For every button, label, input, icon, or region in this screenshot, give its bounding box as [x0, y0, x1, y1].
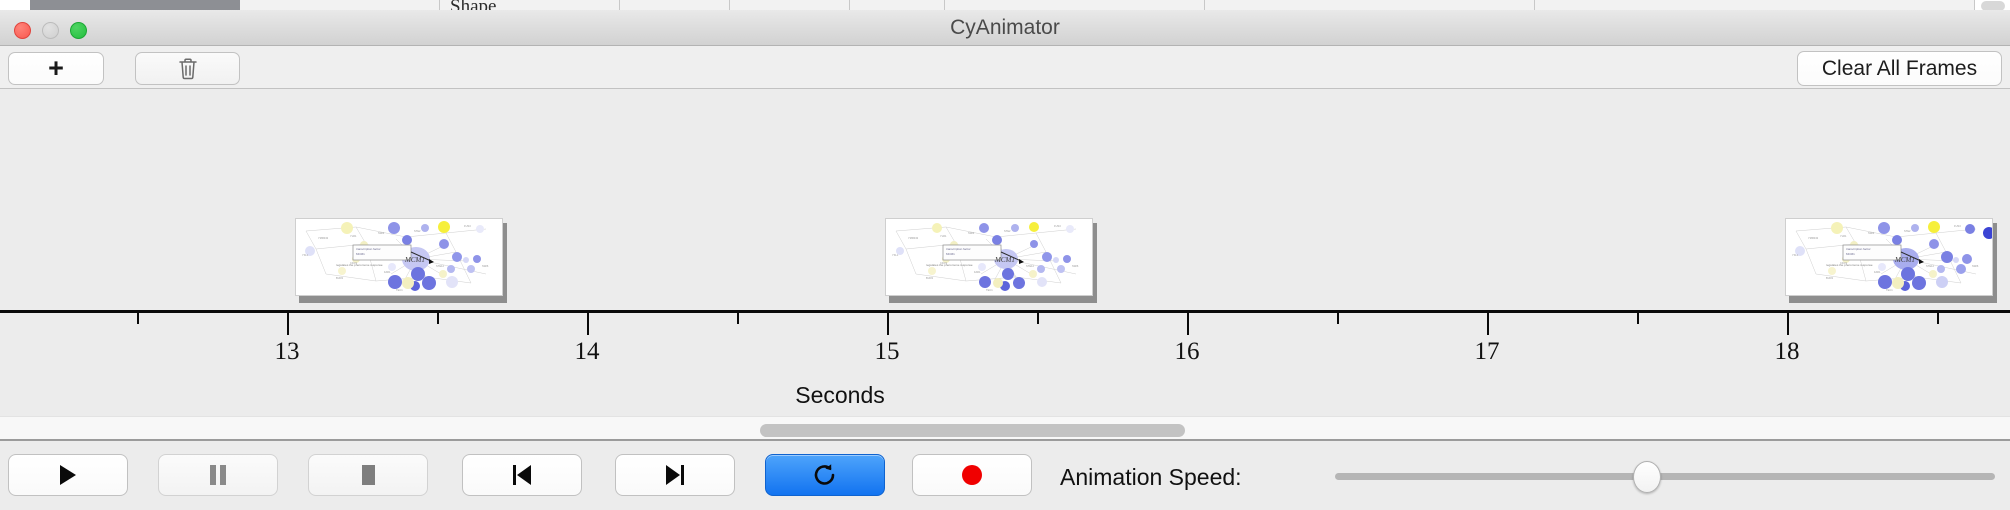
svg-text:YKL1: YKL1	[302, 253, 309, 257]
svg-text:MCM1: MCM1	[946, 252, 955, 256]
pause-button[interactable]	[158, 454, 278, 496]
svg-text:FAR1: FAR1	[974, 270, 981, 274]
plus-icon: +	[48, 55, 64, 82]
svg-text:FUS3: FUS3	[1054, 224, 1061, 228]
svg-text:MCM1: MCM1	[356, 252, 365, 256]
skip-forward-icon	[664, 464, 686, 486]
svg-text:MCM1: MCM1	[404, 256, 425, 264]
svg-text:SWI4: SWI4	[1868, 231, 1875, 235]
close-icon[interactable]	[14, 22, 31, 39]
svg-text:SWI6: SWI6	[482, 264, 489, 268]
timeline-major-tick	[1187, 313, 1189, 335]
timeline-tick-label: 15	[875, 338, 900, 366]
svg-text:BUD3: BUD3	[926, 276, 933, 280]
network-graph-icon: YMR043YLR1 SWI4STE2 FUS3YKL1 CDC9BUD3 FA…	[886, 219, 1093, 296]
svg-text:YMR043: YMR043	[908, 236, 919, 240]
frame-image: YMR043YLR1 SWI4STE2 FUS3YKL1 CDC9BUD3 FA…	[295, 218, 503, 296]
zoom-icon[interactable]	[70, 22, 87, 39]
svg-text:transcription factor: transcription factor	[1846, 247, 1871, 251]
timeline-minor-tick	[737, 313, 739, 324]
timeline-major-tick	[1787, 313, 1789, 335]
svg-text:MCM1: MCM1	[994, 256, 1015, 264]
record-button[interactable]	[912, 454, 1032, 496]
scrollbar-thumb[interactable]	[760, 424, 1185, 437]
playback-toolbar: Animation Speed:	[0, 439, 2010, 510]
svg-text:MCM1: MCM1	[1894, 256, 1915, 264]
cyanimator-window: Shape CyAnimator + Clear All Frames	[0, 0, 2010, 510]
svg-text:BUD3: BUD3	[1826, 276, 1833, 280]
previous-frame-button[interactable]	[462, 454, 582, 496]
clear-all-frames-button[interactable]: Clear All Frames	[1797, 51, 2002, 86]
timeline-major-tick	[587, 313, 589, 335]
delete-frame-button[interactable]	[135, 52, 240, 85]
svg-text:regulates the pheromone respon: regulates the pheromone response	[926, 263, 973, 267]
stop-button[interactable]	[308, 454, 428, 496]
timeline-minor-tick	[1037, 313, 1039, 324]
add-frame-button[interactable]: +	[8, 52, 104, 85]
animation-speed-label: Animation Speed:	[1060, 464, 1242, 491]
pause-icon	[208, 464, 228, 486]
timeline-tick-label: 14	[575, 338, 600, 366]
timeline-frame-thumbnail[interactable]: YMR043YLR1 SWI4STE2 FUS3YKL1 CDC9BUD3 FA…	[295, 218, 505, 300]
timeline-panel[interactable]: YMR043YLR1 SWI4STE2 FUS3YKL1 CDC9BUD3 FA…	[0, 89, 2010, 416]
next-frame-button[interactable]	[615, 454, 735, 496]
svg-text:SWI6: SWI6	[1972, 264, 1979, 268]
animation-speed-slider-thumb[interactable]	[1633, 461, 1661, 493]
timeline-scrollbar[interactable]	[0, 416, 2010, 439]
loop-button[interactable]	[765, 454, 885, 496]
timeline-tick-label: 16	[1175, 338, 1200, 366]
record-icon	[960, 463, 984, 487]
svg-text:FAR1: FAR1	[384, 270, 391, 274]
svg-text:YKL1: YKL1	[892, 253, 899, 257]
axis-title: Seconds	[0, 382, 2010, 409]
skip-back-icon	[511, 464, 533, 486]
svg-text:SWI4: SWI4	[378, 231, 385, 235]
timeline-minor-tick	[1637, 313, 1639, 324]
svg-text:STE2: STE2	[1004, 229, 1011, 233]
timeline-minor-tick	[1337, 313, 1339, 324]
svg-text:STE12: STE12	[1026, 264, 1034, 268]
svg-text:SWI4: SWI4	[968, 231, 975, 235]
svg-text:TEC1: TEC1	[1886, 288, 1893, 292]
timeline-frame-thumbnail[interactable]: YMR043YLR1 SWI4STE2 FUS3YKL1 CDC9BUD3 FA…	[885, 218, 1095, 300]
svg-text:STE2: STE2	[414, 229, 421, 233]
svg-text:TEC1: TEC1	[986, 288, 993, 292]
axis-title-label: Seconds	[795, 382, 885, 408]
timeline-tick-label: 13	[275, 338, 300, 366]
loop-icon	[813, 463, 837, 487]
svg-text:transcription factor: transcription factor	[946, 247, 971, 251]
trash-icon	[177, 57, 199, 81]
play-icon	[58, 464, 78, 486]
svg-text:YLR1: YLR1	[1840, 234, 1847, 238]
svg-text:TEC1: TEC1	[396, 288, 403, 292]
timeline-tick-label: 18	[1775, 338, 1800, 366]
svg-text:BUD3: BUD3	[336, 276, 343, 280]
frame-image: YMR043YLR1 SWI4STE2 FUS3YKL1 CDC9BUD3 FA…	[1785, 218, 1993, 296]
svg-text:STE2: STE2	[1904, 229, 1911, 233]
animation-speed-slider[interactable]	[1335, 473, 1995, 480]
svg-text:YKL1: YKL1	[1792, 253, 1799, 257]
svg-text:YLR1: YLR1	[940, 234, 947, 238]
timeline-minor-tick	[437, 313, 439, 324]
traffic-lights	[14, 22, 87, 39]
frame-toolbar: + Clear All Frames	[0, 46, 2010, 89]
minimize-icon[interactable]	[42, 22, 59, 39]
timeline-axis-line	[0, 310, 2010, 313]
svg-text:SWI6: SWI6	[1072, 264, 1079, 268]
timeline-minor-tick	[137, 313, 139, 324]
timeline-major-tick	[1487, 313, 1489, 335]
svg-text:YMR043: YMR043	[1808, 236, 1819, 240]
svg-text:transcription factor: transcription factor	[356, 247, 381, 251]
timeline-major-tick	[287, 313, 289, 335]
frame-image: YMR043YLR1 SWI4STE2 FUS3YKL1 CDC9BUD3 FA…	[885, 218, 1093, 296]
play-button[interactable]	[8, 454, 128, 496]
timeline-minor-tick	[1937, 313, 1939, 324]
window-title: CyAnimator	[0, 10, 2010, 46]
title-bar: CyAnimator	[0, 10, 2010, 46]
svg-text:FUS3: FUS3	[464, 224, 471, 228]
svg-text:YMR043: YMR043	[318, 236, 329, 240]
svg-text:regulates the pheromone respon: regulates the pheromone response	[336, 263, 383, 267]
svg-text:MCM1: MCM1	[1846, 252, 1855, 256]
svg-text:YLR1: YLR1	[350, 234, 357, 238]
timeline-major-tick	[887, 313, 889, 335]
svg-text:STE12: STE12	[436, 264, 444, 268]
network-graph-icon: YMR043YLR1 SWI4STE2 FUS3YKL1 CDC9BUD3 FA…	[1786, 219, 1993, 296]
timeline-frame-thumbnail[interactable]: YMR043YLR1 SWI4STE2 FUS3YKL1 CDC9BUD3 FA…	[1785, 218, 1995, 300]
svg-text:regulates the pheromone respon: regulates the pheromone response	[1826, 263, 1873, 267]
svg-text:STE12: STE12	[1926, 264, 1934, 268]
svg-text:FAR1: FAR1	[1874, 270, 1881, 274]
svg-text:FUS3: FUS3	[1954, 224, 1961, 228]
stop-icon	[358, 464, 378, 486]
network-graph-icon: YMR043YLR1 SWI4STE2 FUS3YKL1 CDC9BUD3 FA…	[296, 219, 503, 296]
timeline-tick-label: 17	[1475, 338, 1500, 366]
